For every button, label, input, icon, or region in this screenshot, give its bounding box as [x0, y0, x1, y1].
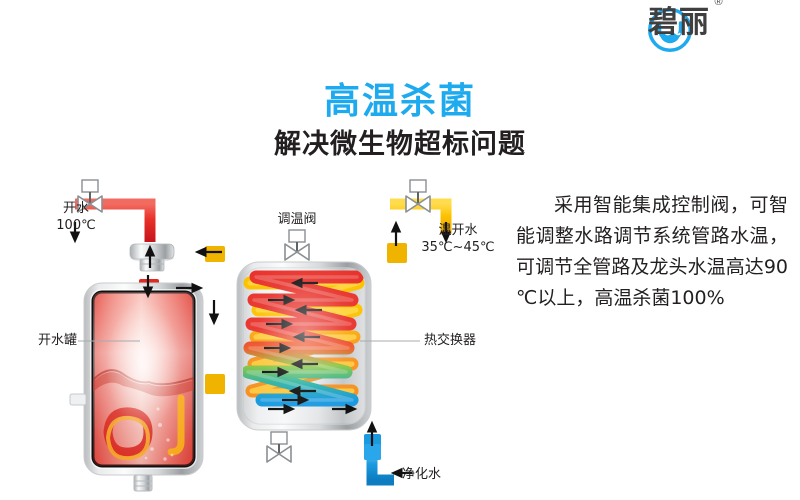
diagram-page: 碧丽 ® 高温杀菌 解决微生物超标问题 采用智能集成控制阀，可智能调整水路调节系… [0, 0, 800, 500]
label-boiling-water: 开水 100℃ [44, 200, 108, 234]
label-warm-water-name: 温开水 [418, 222, 498, 239]
system-diagram [0, 0, 800, 500]
heat-exchanger [237, 262, 371, 430]
label-temp-valve: 调温阀 [268, 211, 326, 228]
label-boiling-water-name: 开水 [44, 200, 108, 217]
label-boiling-water-temp: 100℃ [44, 217, 108, 234]
label-warm-water: 温开水 35℃~45℃ [418, 222, 498, 256]
label-boiler-tank: 开水罐 [38, 332, 77, 349]
label-heat-exchanger: 热交换器 [424, 332, 476, 349]
chrome-fitting [130, 244, 174, 271]
label-purified-water: 净化水 [402, 466, 441, 483]
boiler-tank [70, 283, 203, 491]
label-warm-water-temp: 35℃~45℃ [418, 239, 498, 256]
